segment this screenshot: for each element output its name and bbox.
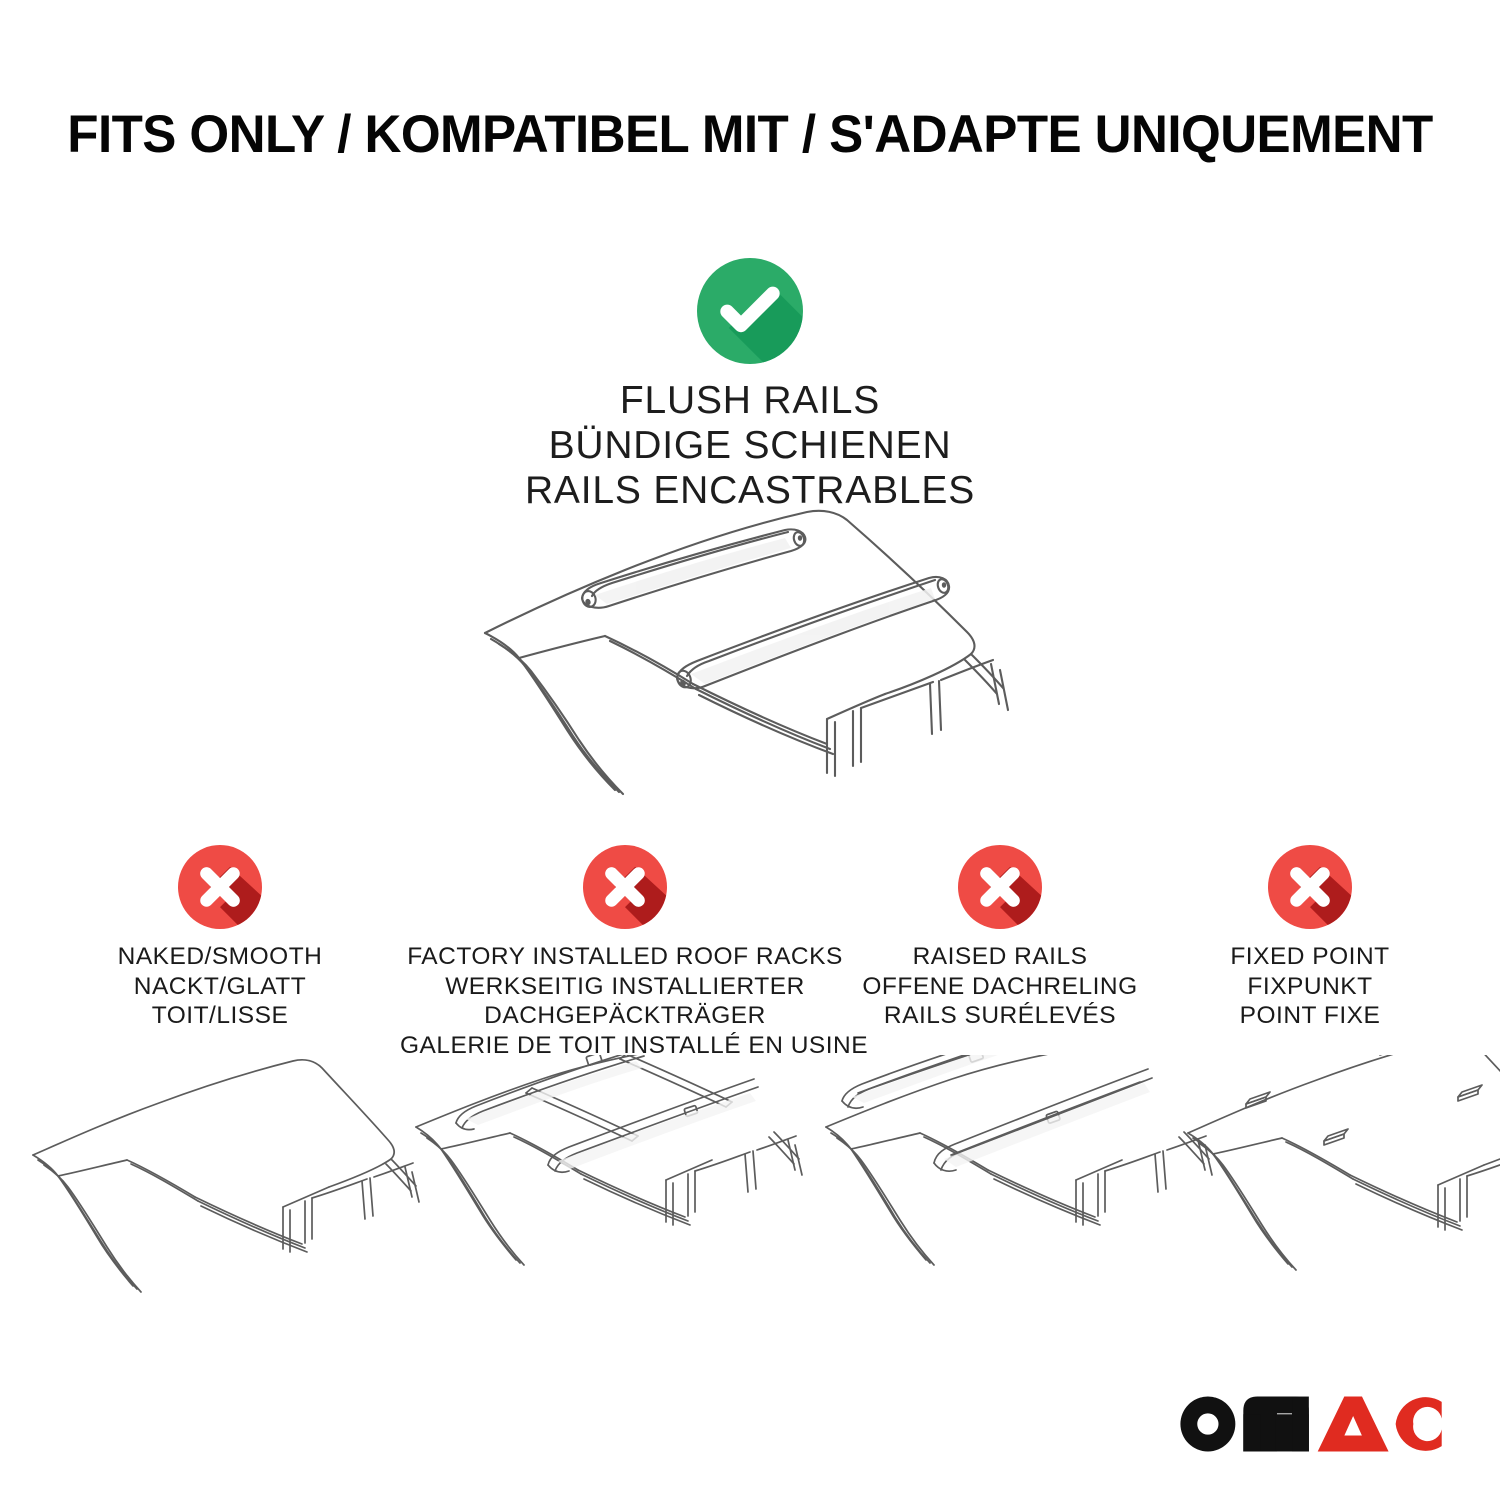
- red-x-circle-icon: [830, 845, 1170, 929]
- incompatible-label-en: FACTORY INSTALLED ROOF RACKS: [400, 942, 850, 972]
- incompatible-label-de: OFFENE DACHRELING: [830, 972, 1170, 1002]
- page-title: FITS ONLY / KOMPATIBEL MIT / S'ADAPTE UN…: [26, 104, 1474, 165]
- omac-logo: [1176, 1393, 1442, 1455]
- incompatible-section: NAKED/SMOOTH NACKT/GLATT TOIT/LISSE: [0, 845, 1500, 1055]
- incompatible-label-en: RAISED RAILS: [830, 942, 1170, 972]
- car-roof-bare-icon: [25, 1055, 425, 1305]
- incompatible-labels: NAKED/SMOOTH NACKT/GLATT TOIT/LISSE: [35, 942, 405, 1031]
- incompatible-labels: RAISED RAILS OFFENE DACHRELING RAILS SUR…: [830, 942, 1170, 1031]
- red-x-circle-icon: [35, 845, 405, 929]
- incompatible-label-de-2: DACHGEPÄCKTRÄGER: [400, 1001, 850, 1031]
- incompatible-label-en: NAKED/SMOOTH: [35, 942, 405, 972]
- incompatible-item-naked-smooth: NAKED/SMOOTH NACKT/GLATT TOIT/LISSE: [35, 845, 405, 1031]
- incompatible-labels: FIXED POINT FIXPUNKT POINT FIXE: [1155, 942, 1465, 1031]
- incompatible-label-en: FIXED POINT: [1155, 942, 1465, 972]
- compatible-label-en: FLUSH RAILS: [0, 378, 1500, 423]
- incompatible-label-de: NACKT/GLATT: [35, 972, 405, 1002]
- car-roof-raised-rails-icon: [818, 1055, 1218, 1305]
- red-x-circle-icon: [1155, 845, 1465, 929]
- incompatible-label-fr: RAILS SURÉLEVÉS: [830, 1001, 1170, 1031]
- incompatible-item-fixed-point: FIXED POINT FIXPUNKT POINT FIXE: [1155, 845, 1465, 1031]
- incompatible-label-de: FIXPUNKT: [1155, 972, 1465, 1002]
- compatible-section: FLUSH RAILS BÜNDIGE SCHIENEN RAILS ENCAS…: [0, 258, 1500, 514]
- incompatible-labels: FACTORY INSTALLED ROOF RACKS WERKSEITIG …: [400, 942, 850, 1061]
- compatible-label-de: BÜNDIGE SCHIENEN: [0, 423, 1500, 468]
- car-roof-crossbars-icon: [408, 1055, 808, 1305]
- incompatible-label-fr: POINT FIXE: [1155, 1001, 1465, 1031]
- incompatible-item-raised-rails: RAISED RAILS OFFENE DACHRELING RAILS SUR…: [830, 845, 1170, 1031]
- logo-letter-c: [1396, 1397, 1442, 1451]
- compatible-labels: FLUSH RAILS BÜNDIGE SCHIENEN RAILS ENCAS…: [0, 378, 1500, 514]
- red-x-circle-icon: [400, 845, 850, 929]
- logo-letter-o: [1181, 1397, 1236, 1452]
- roof-type-illustrations: [0, 1055, 1500, 1305]
- incompatible-label-fr: TOIT/LISSE: [35, 1001, 405, 1031]
- car-roof-flush-rails-icon: [455, 498, 1055, 798]
- incompatible-item-factory-roof-racks: FACTORY INSTALLED ROOF RACKS WERKSEITIG …: [400, 845, 850, 1061]
- green-check-circle-icon: [0, 258, 1500, 364]
- car-roof-fixed-point-icon: [1180, 1055, 1500, 1305]
- incompatible-label-de-1: WERKSEITIG INSTALLIERTER: [400, 972, 850, 1002]
- product-compatibility-infographic: FITS ONLY / KOMPATIBEL MIT / S'ADAPTE UN…: [0, 0, 1500, 1500]
